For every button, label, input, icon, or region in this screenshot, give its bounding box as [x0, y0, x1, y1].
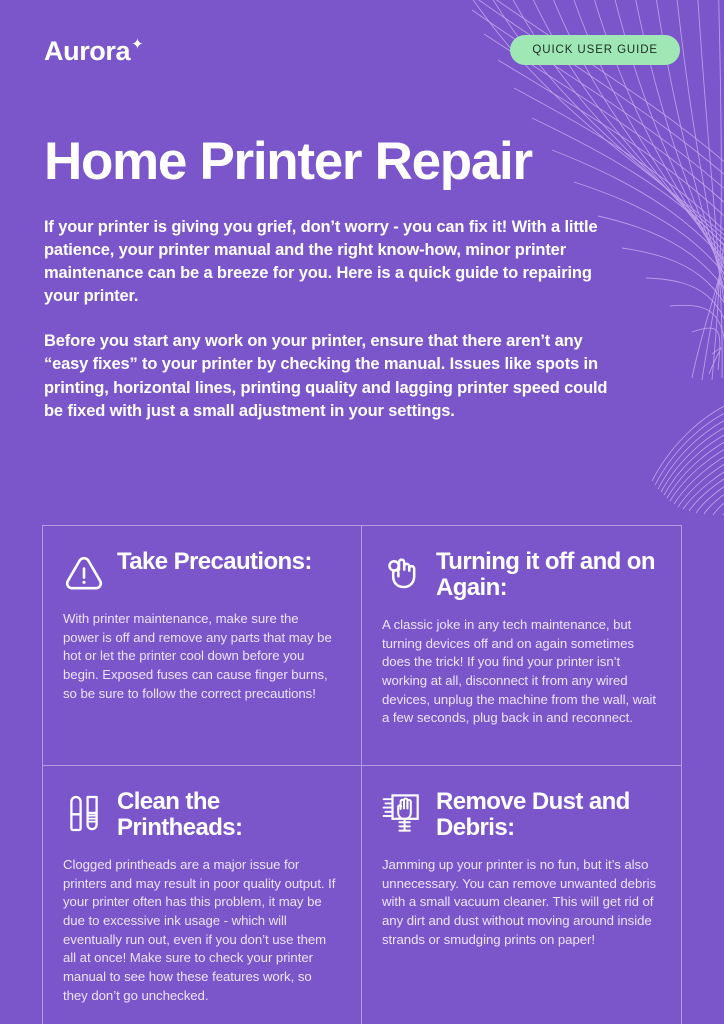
card-body: Clogged printheads are a major issue for… — [63, 856, 337, 1006]
card-body: A classic joke in any tech maintenance, … — [382, 616, 657, 728]
page-header: Aurora✦ QUICK USER GUIDE — [0, 0, 724, 80]
tip-card-clean-printheads: Clean the Printheads: Clogged printheads… — [43, 766, 362, 1024]
tip-card-take-precautions: Take Precautions: With printer maintenan… — [43, 526, 362, 766]
brand-logo[interactable]: Aurora✦ — [44, 32, 143, 65]
status-badge: QUICK USER GUIDE — [510, 35, 680, 65]
tip-card-remove-dust: Remove Dust and Debris: Jamming up your … — [362, 766, 681, 1024]
pointing-hand-icon — [382, 550, 424, 596]
warning-triangle-icon — [63, 550, 105, 596]
card-title: Turning it off and on Again: — [436, 548, 657, 602]
card-header: Clean the Printheads: — [63, 788, 337, 842]
card-header: Take Precautions: — [63, 548, 337, 596]
card-header: Turning it off and on Again: — [382, 548, 657, 602]
sparkle-icon: ✦ — [131, 37, 143, 52]
brand-logo-text: Aurora — [44, 38, 130, 65]
dusting-hand-icon — [382, 790, 424, 836]
intro-paragraph-2: Before you start any work on your printe… — [44, 330, 619, 422]
printheads-icon — [63, 790, 105, 836]
hero-section: Home Printer Repair If your printer is g… — [0, 135, 724, 423]
card-title: Clean the Printheads: — [117, 788, 337, 842]
card-title: Remove Dust and Debris: — [436, 788, 657, 842]
intro-copy: If your printer is giving you grief, don… — [44, 216, 619, 423]
tip-card-turning-off-on: Turning it off and on Again: A classic j… — [362, 526, 681, 766]
card-body: With printer maintenance, make sure the … — [63, 610, 337, 704]
card-title: Take Precautions: — [117, 548, 312, 575]
intro-paragraph-1: If your printer is giving you grief, don… — [44, 216, 619, 308]
page-title: Home Printer Repair — [44, 135, 680, 188]
card-header: Remove Dust and Debris: — [382, 788, 657, 842]
card-body: Jamming up your printer is no fun, but i… — [382, 856, 657, 950]
tips-grid: Take Precautions: With printer maintenan… — [42, 525, 682, 1024]
